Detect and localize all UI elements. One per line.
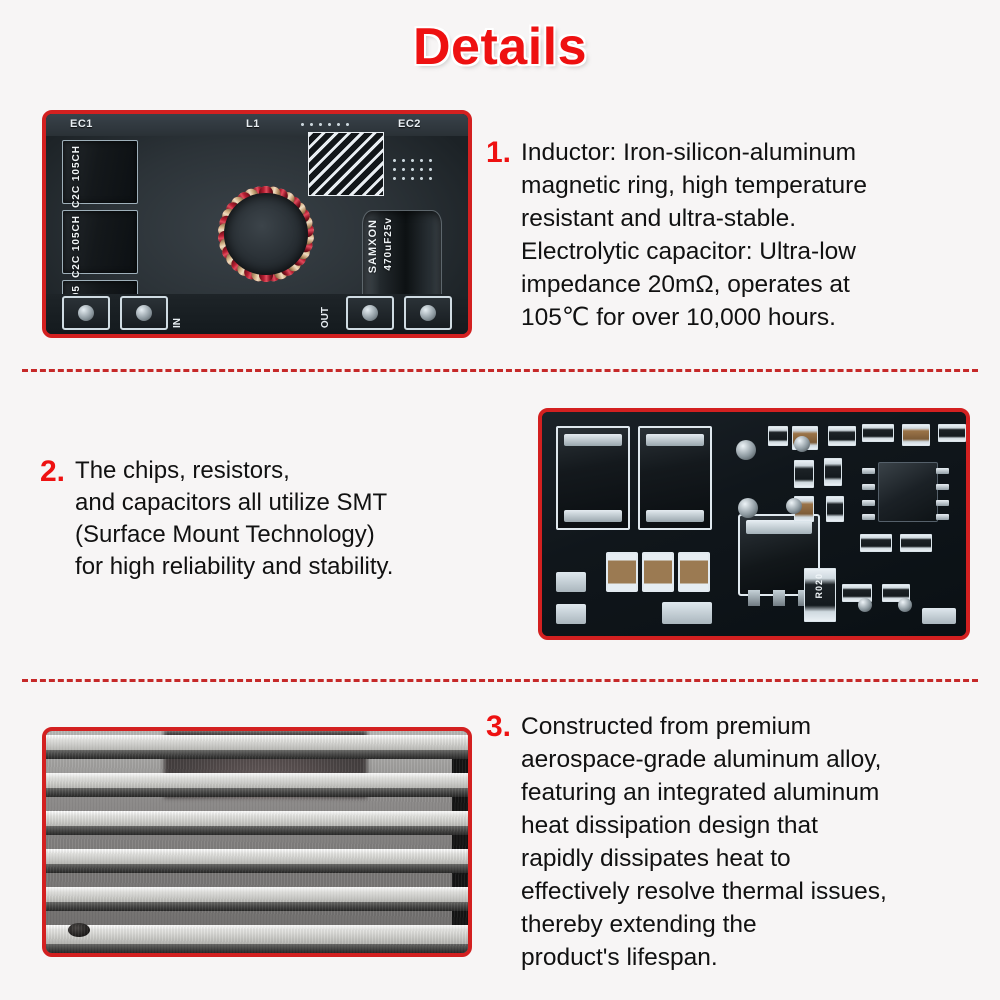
smd-resistor [824,458,842,486]
product-photo-smt: R020 [538,408,970,640]
smd-capacitor [902,424,930,446]
section-divider-1 [22,369,978,372]
smd-resistor [794,460,814,488]
solder-pad [662,602,712,624]
heatsink-fin [46,887,468,911]
item-text-3: Constructed from premium aerospace-grade… [521,710,986,974]
fin-edge [46,735,468,740]
smd-resistor [862,424,894,442]
smd-resistor [900,534,932,552]
fin-edge [46,849,468,854]
ic-lead [862,468,875,474]
smd-resistor [938,424,966,442]
detail-item-3: 3. Constructed from premium aerospace-gr… [486,710,986,974]
mounting-via [786,498,802,514]
ic-lead [936,468,949,474]
smd-resistor [826,496,844,522]
solder-pad [556,604,586,624]
silkscreen-label-l1: L1 [246,118,260,130]
terminal-label-in: IN [172,318,183,328]
item-text-2: The chips, resistors, and capacitors all… [75,455,510,583]
electrolytic-spec-label: 470uF25v [383,217,394,271]
heatsink-fin [46,925,468,953]
fin-shadow [46,864,468,873]
pcb-board-2: R020 [542,412,966,636]
silkscreen-label-ec1: EC1 [70,118,93,130]
to220-metal-tab [746,520,812,534]
silkscreen-label-ec2: EC2 [398,118,421,130]
detail-item-1: 1. Inductor: Iron-silicon-aluminum magne… [486,136,986,334]
heatsink-slot [452,797,468,811]
screw-icon [362,305,378,321]
mounting-via [794,436,810,452]
sense-resistor: R020 [804,568,836,622]
heatsink-mounting-hole [68,923,90,937]
tantalum-capacitor [606,552,638,592]
heatsink-fin [46,773,468,797]
mounting-via [858,598,872,612]
ic-lead [862,484,875,490]
solder-pad [556,572,586,592]
ic-lead [862,514,875,520]
ic-lead [862,500,875,506]
pcb-board-1: SK(M) C2C 105CH SK(M) C2C 105CH SK(M) C2… [46,114,468,334]
power-mosfet-1 [556,426,630,530]
ic-lead [936,500,949,506]
tantalum-capacitor [642,552,674,592]
fin-shadow [46,788,468,797]
ic-lead [936,514,949,520]
to220-lead-1 [748,590,760,606]
heatsink-slot [452,759,468,773]
item-number-3: 3. [486,710,511,744]
smd-resistor [768,426,788,446]
terminal-label-out: OUT [320,307,331,328]
fin-shadow [46,944,468,953]
item-number-1: 1. [486,136,511,170]
electrolytic-brand-label: SAMXON [367,219,379,273]
terminal-block-in-1 [62,296,110,330]
mounting-via [736,440,756,460]
pad-grid-right [390,156,434,186]
fin-shadow [46,902,468,911]
section-divider-2 [22,679,978,682]
fin-shadow [46,750,468,759]
item-text-1: Inductor: Iron-silicon-aluminum magnetic… [521,136,986,334]
solder-pad [922,608,956,624]
inductor-core-hole [224,193,308,275]
heatsink-body [46,731,468,953]
heatsink-slot [452,835,468,849]
page-title: Details [0,0,1000,80]
to220-lead-2 [773,590,785,606]
mounting-via [898,598,912,612]
heatsink-fin [46,849,468,873]
heatsink-fin [46,735,468,759]
pad-grid-top [298,120,350,132]
smd-resistor [828,426,856,446]
terminal-block-out-1 [346,296,394,330]
terminal-block-out-2 [404,296,452,330]
product-photo-inductor: SK(M) C2C 105CH SK(M) C2C 105CH SK(M) C2… [42,110,472,338]
mounting-via [738,498,758,518]
fin-shadow [46,826,468,835]
fin-edge [46,773,468,778]
screw-icon [420,305,436,321]
screw-icon [136,305,152,321]
heatsink-slot [452,873,468,887]
smd-capacitor-a: SK(M) C2C 105CH [62,140,138,204]
controller-ic [878,462,938,522]
heatsink-fin [46,811,468,835]
smd-resistor [860,534,892,552]
sense-resistor-label: R020 [814,573,824,599]
detail-item-2: 2. The chips, resistors, and capacitors … [40,455,510,583]
terminal-block-in-2 [120,296,168,330]
fin-edge [46,887,468,892]
screw-icon [78,305,94,321]
smd-capacitor-b: SK(M) C2C 105CH [62,210,138,274]
ic-lead [936,484,949,490]
fin-edge [46,925,468,930]
heatsink-slot [452,911,468,925]
tantalum-capacitor [678,552,710,592]
heatsink-side-slots [452,753,468,940]
product-photo-heatsink [42,727,472,957]
power-mosfet-2 [638,426,712,530]
item-number-2: 2. [40,455,65,489]
fin-edge [46,811,468,816]
